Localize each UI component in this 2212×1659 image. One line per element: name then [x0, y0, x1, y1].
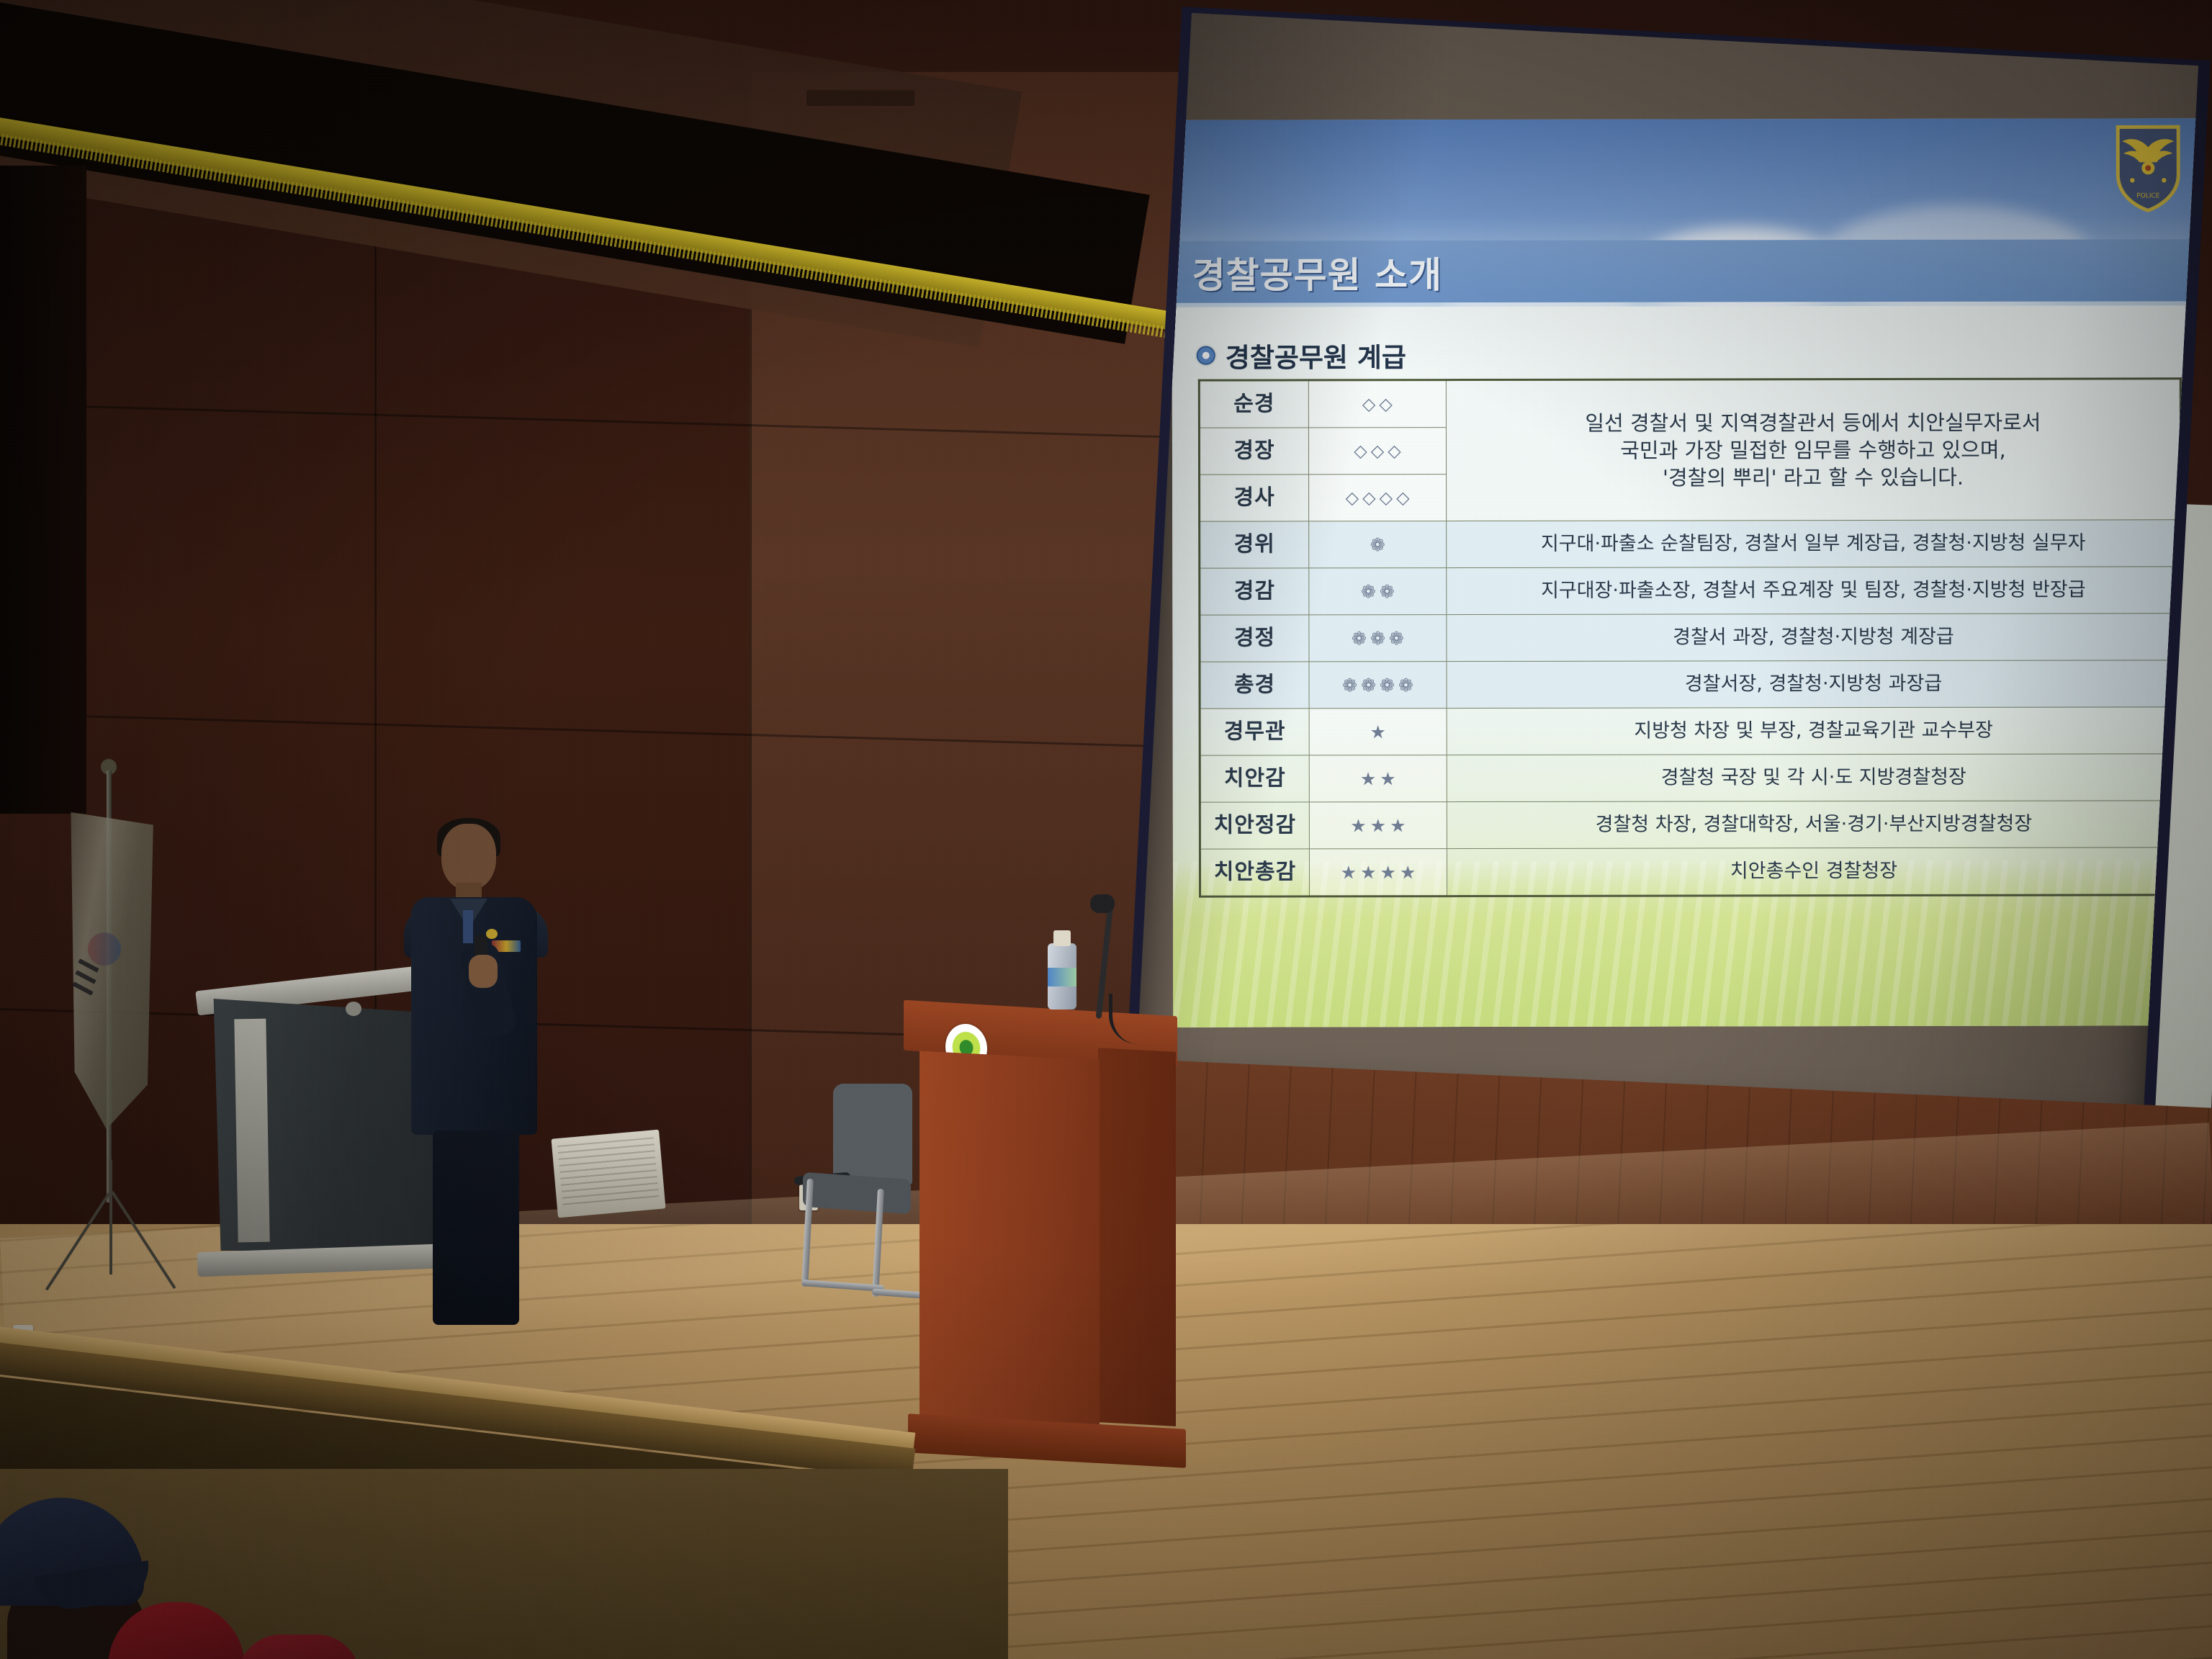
microphone-cable: [1109, 994, 1170, 1044]
rank-description-cell: 치안총수인 경찰청장: [1447, 848, 2181, 896]
slide-title: 경찰공무원 소개: [1192, 246, 1442, 299]
star-icon: ★: [1350, 817, 1366, 835]
chevron-insignia-icon: ◇: [1380, 489, 1393, 506]
chevron-insignia-icon: ◇: [1346, 489, 1359, 506]
screen-surface: POLICE 경찰공무원 소개 경찰공무원 계급 순경◇◇일선 경찰서 및 지역…: [1136, 13, 2198, 1137]
tripod-leg: [45, 1192, 110, 1290]
rank-description-cell: 경찰청 국장 및 각 시·도 지방경찰청장: [1447, 754, 2181, 802]
presentation-slide: POLICE 경찰공무원 소개 경찰공무원 계급 순경◇◇일선 경찰서 및 지역…: [1172, 118, 2198, 1028]
table-row: 치안감★★경찰청 국장 및 각 시·도 지방경찰청장: [1200, 754, 2181, 802]
tripod-leg: [109, 1159, 112, 1274]
table-row: 경감❁❁지구대장·파출소장, 경찰서 주요계장 및 팀장, 경찰청·지방청 반장…: [1200, 567, 2181, 615]
mugunghwa-flower-icon: ❁: [1370, 536, 1385, 554]
rank-insignia-cell: ★: [1309, 709, 1447, 755]
chevron-insignia-icon: ◇: [1362, 489, 1376, 506]
mugunghwa-flower-icon: ❁: [1370, 629, 1385, 647]
taeguk-circle-icon: [88, 932, 121, 966]
lectern-knob[interactable]: [346, 1002, 361, 1016]
chevron-insignia-icon: ◇: [1396, 489, 1410, 506]
rank-description-cell: 지방청 차장 및 부장, 경찰교육기관 교수부장: [1447, 707, 2181, 755]
rank-insignia-cell: ❁❁: [1309, 568, 1447, 615]
microphone-head-icon: [1090, 894, 1115, 913]
police-rank-table: 순경◇◇일선 경찰서 및 지역경찰관서 등에서 치안실무자로서국민과 가장 밀접…: [1198, 377, 2182, 897]
description-line: '경찰의 뿌리' 라고 할 수 있습니다.: [1457, 463, 2170, 492]
mugunghwa-flower-icon: ❁: [1380, 583, 1395, 601]
water-bottle[interactable]: [1048, 930, 1076, 1010]
bullet-circle-icon: [1197, 346, 1215, 365]
rank-name-cell: 경장: [1199, 428, 1308, 475]
rank-insignia-cell: ★★: [1309, 755, 1447, 802]
presenter-necktie: [463, 910, 473, 943]
rank-insignia-cell: ◇◇: [1308, 380, 1446, 428]
rank-name-cell: 경사: [1200, 475, 1309, 521]
rank-insignia-star: ★★★: [1310, 802, 1447, 848]
chair-backrest: [833, 1084, 912, 1184]
mugunghwa-flower-icon: ❁: [1342, 676, 1357, 694]
chevron-insignia-icon: ◇: [1354, 442, 1367, 459]
rank-name-cell: 치안총감: [1200, 849, 1309, 896]
wooden-podium: [904, 1008, 1177, 1483]
rank-name-cell: 경무관: [1200, 709, 1309, 755]
projection-screen: POLICE 경찰공무원 소개 경찰공무원 계급 순경◇◇일선 경찰서 및 지역…: [1134, 13, 2198, 1166]
podium-front-panel: [920, 1051, 1100, 1434]
section-heading-label: 경찰공무원 계급: [1226, 336, 1406, 374]
description-line: 국민과 가장 밀접한 임무를 수행하고 있으며,: [1457, 436, 2170, 464]
table-row: 치안정감★★★경찰청 차장, 경찰대학장, 서울·경기·부산지방경찰청장: [1200, 801, 2181, 849]
rank-insignia-cell: ◇◇◇: [1308, 428, 1446, 475]
rank-insignia-star: ★★★★: [1310, 849, 1447, 895]
mugunghwa-flower-icon: ❁: [1352, 629, 1367, 647]
star-icon: ★: [1400, 863, 1416, 881]
chair-seat: [803, 1172, 911, 1214]
presenter-rank-badge: [486, 929, 498, 939]
mugunghwa-flower-icon: ❁: [1361, 676, 1376, 694]
lectern-accent-stripe: [234, 1019, 269, 1243]
stage-curtain-left: [0, 166, 86, 814]
tripod-leg: [111, 1191, 176, 1289]
star-icon: ★: [1380, 770, 1395, 788]
star-icon: ★: [1341, 863, 1357, 881]
rank-name-cell: 치안정감: [1200, 802, 1309, 849]
rank-description-cell: 경찰서장, 경찰청·지방청 과장급: [1447, 660, 2181, 709]
rank-name-cell: 경정: [1200, 615, 1309, 662]
table-row: 총경❁❁❁❁경찰서장, 경찰청·지방청 과장급: [1200, 660, 2181, 709]
star-icon: ★: [1360, 770, 1376, 788]
star-icon: ★: [1370, 817, 1386, 835]
star-icon: ★: [1370, 723, 1385, 741]
rank-insignia-chevron: ◇◇: [1309, 381, 1446, 427]
table-row: 경무관★지방청 차장 및 부장, 경찰교육기관 교수부장: [1200, 707, 2181, 755]
star-icon: ★: [1380, 863, 1395, 881]
bottle-cap: [1053, 930, 1071, 946]
rank-insignia-flower: ❁❁❁❁: [1309, 662, 1446, 708]
rank-description-cell-merged: 일선 경찰서 및 지역경찰관서 등에서 치안실무자로서국민과 가장 밀접한 임무…: [1446, 379, 2180, 521]
rank-insignia-chevron: ◇◇◇: [1309, 428, 1446, 474]
rank-description-cell: 지구대장·파출소장, 경찰서 주요계장 및 팀장, 경찰청·지방청 반장급: [1447, 567, 2181, 615]
rank-insignia-flower: ❁: [1309, 521, 1446, 567]
table-row: 경정❁❁❁경찰서 과장, 경찰청·지방청 계장급: [1200, 613, 2181, 662]
rank-name-cell: 총경: [1200, 662, 1309, 709]
presenter-police-officer: [400, 814, 558, 1318]
rank-insignia-cell: ❁: [1309, 521, 1447, 568]
chevron-insignia-icon: ◇: [1371, 442, 1385, 459]
svg-text:POLICE: POLICE: [2136, 192, 2159, 199]
korean-national-flag: [50, 770, 173, 1260]
presenter-hand: [469, 955, 498, 988]
rank-insignia-flower: ❁❁❁: [1309, 615, 1446, 661]
podium-side-panel: [1098, 1048, 1176, 1426]
auditorium-photo: POLICE 경찰공무원 소개 경찰공무원 계급 순경◇◇일선 경찰서 및 지역…: [0, 0, 2212, 1659]
mugunghwa-flower-icon: ❁: [1380, 676, 1395, 694]
rank-insignia-star: ★: [1310, 709, 1447, 755]
bottle-label: [1048, 968, 1076, 986]
mugunghwa-flower-icon: ❁: [1389, 629, 1404, 647]
description-line: 일선 경찰서 및 지역경찰관서 등에서 치안실무자로서: [1457, 408, 2170, 437]
chevron-insignia-icon: ◇: [1388, 442, 1401, 459]
rank-description-cell: 경찰청 차장, 경찰대학장, 서울·경기·부산지방경찰청장: [1447, 801, 2181, 849]
table-row: 순경◇◇일선 경찰서 및 지역경찰관서 등에서 치안실무자로서국민과 가장 밀접…: [1199, 379, 2180, 428]
rank-insignia-star: ★★: [1310, 755, 1447, 801]
rank-description-cell: 경찰서 과장, 경찰청·지방청 계장급: [1447, 613, 2181, 662]
chevron-insignia-icon: ◇: [1379, 395, 1393, 413]
electric-heater: [551, 1130, 665, 1218]
rank-name-cell: 치안감: [1200, 755, 1309, 802]
star-icon: ★: [1360, 863, 1376, 881]
table-row: 경위❁지구대·파출소 순찰팀장, 경찰서 일부 계장급, 경찰청·지방청 실무자: [1200, 520, 2181, 568]
rank-insignia-cell: ★★★★: [1309, 849, 1447, 896]
rank-insignia-flower: ❁❁: [1309, 568, 1446, 614]
presenter-head: [441, 824, 496, 890]
police-emblem-icon: POLICE: [2113, 122, 2182, 212]
rank-insignia-cell: ★★★: [1309, 802, 1447, 849]
presenter-trousers: [433, 1130, 519, 1325]
rank-insignia-chevron: ◇◇◇◇: [1309, 475, 1446, 521]
mugunghwa-flower-icon: ❁: [1398, 676, 1413, 694]
ceiling-vent: [806, 90, 914, 106]
rank-insignia-cell: ❁❁❁❁: [1309, 662, 1447, 709]
rank-insignia-cell: ◇◇◇◇: [1309, 475, 1447, 521]
rank-insignia-cell: ❁❁❁: [1309, 615, 1447, 662]
star-icon: ★: [1390, 817, 1406, 835]
slide-section-heading: 경찰공무원 계급: [1197, 336, 1406, 375]
flag-tripod-stand: [65, 1159, 166, 1282]
rank-name-cell: 경감: [1200, 568, 1309, 615]
rank-description-cell: 지구대·파출소 순찰팀장, 경찰서 일부 계장급, 경찰청·지방청 실무자: [1447, 520, 2181, 568]
table-row: 치안총감★★★★치안총수인 경찰청장: [1200, 848, 2181, 896]
chevron-insignia-icon: ◇: [1362, 395, 1376, 413]
rank-name-cell: 순경: [1199, 380, 1308, 428]
mugunghwa-flower-icon: ❁: [1361, 583, 1376, 601]
rank-name-cell: 경위: [1200, 521, 1309, 568]
